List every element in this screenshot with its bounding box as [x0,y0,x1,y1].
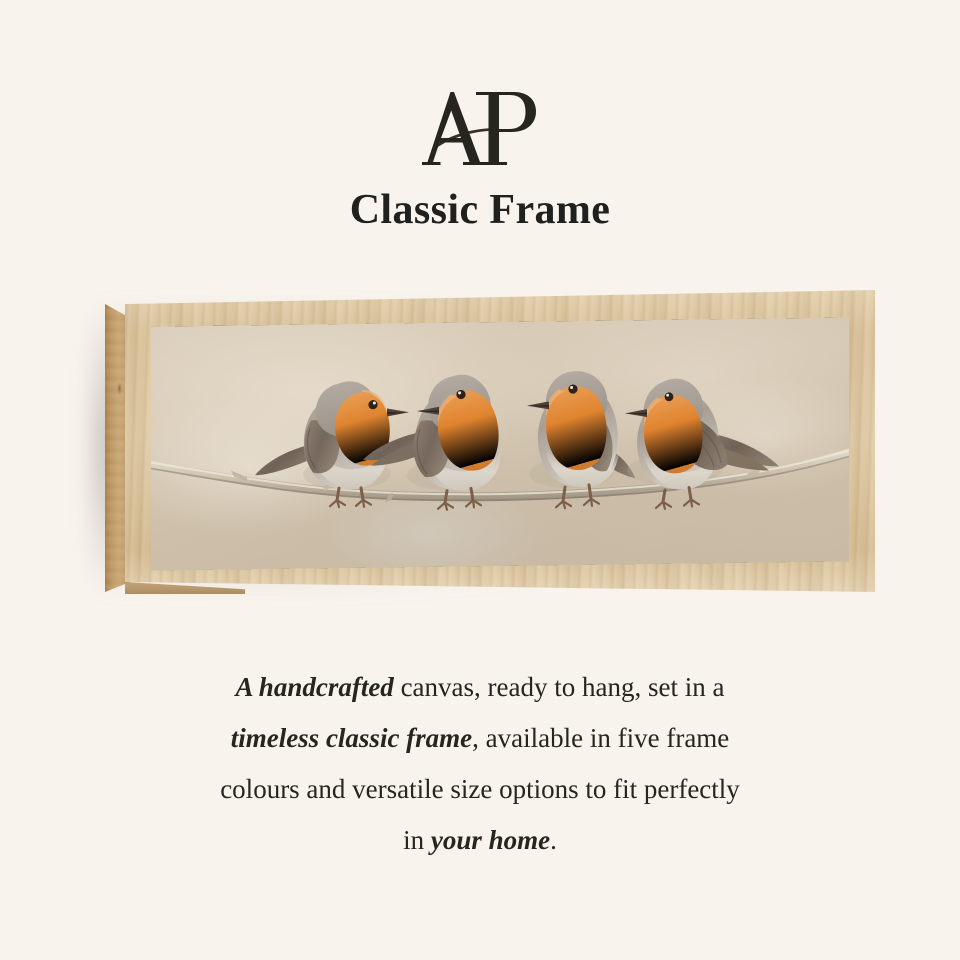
description-text-4a: in [403,825,431,855]
canvas-window [151,317,849,570]
description-line-4: in your home. [120,815,840,866]
frame-bottom-depth [125,582,245,594]
brand-logo [0,86,960,170]
description-line-3: colours and versatile size options to fi… [120,764,840,815]
framed-artwork[interactable] [86,276,876,606]
canvas-painting [151,317,849,570]
product-card: Classic Frame [0,0,960,960]
description-line-1: A handcrafted canvas, ready to hang, set… [120,662,840,713]
description-text-1: canvas, ready to hang, set in a [394,672,725,702]
ap-monogram-icon [410,86,550,170]
description-text-4b: . [550,825,557,855]
frame-wood-knot [117,382,122,395]
picture-frame [105,290,875,592]
description-text-2: , available in five frame [472,723,729,753]
robins-scene-illustration [151,317,849,570]
description-line-2: timeless classic frame, available in fiv… [120,713,840,764]
page-title: Classic Frame [0,186,960,234]
description-emphasis-4: your home [431,825,550,855]
product-description: A handcrafted canvas, ready to hang, set… [120,662,840,866]
description-emphasis-1: A handcrafted [236,672,394,702]
description-emphasis-2: timeless classic frame [231,723,472,753]
frame-face [125,290,875,592]
